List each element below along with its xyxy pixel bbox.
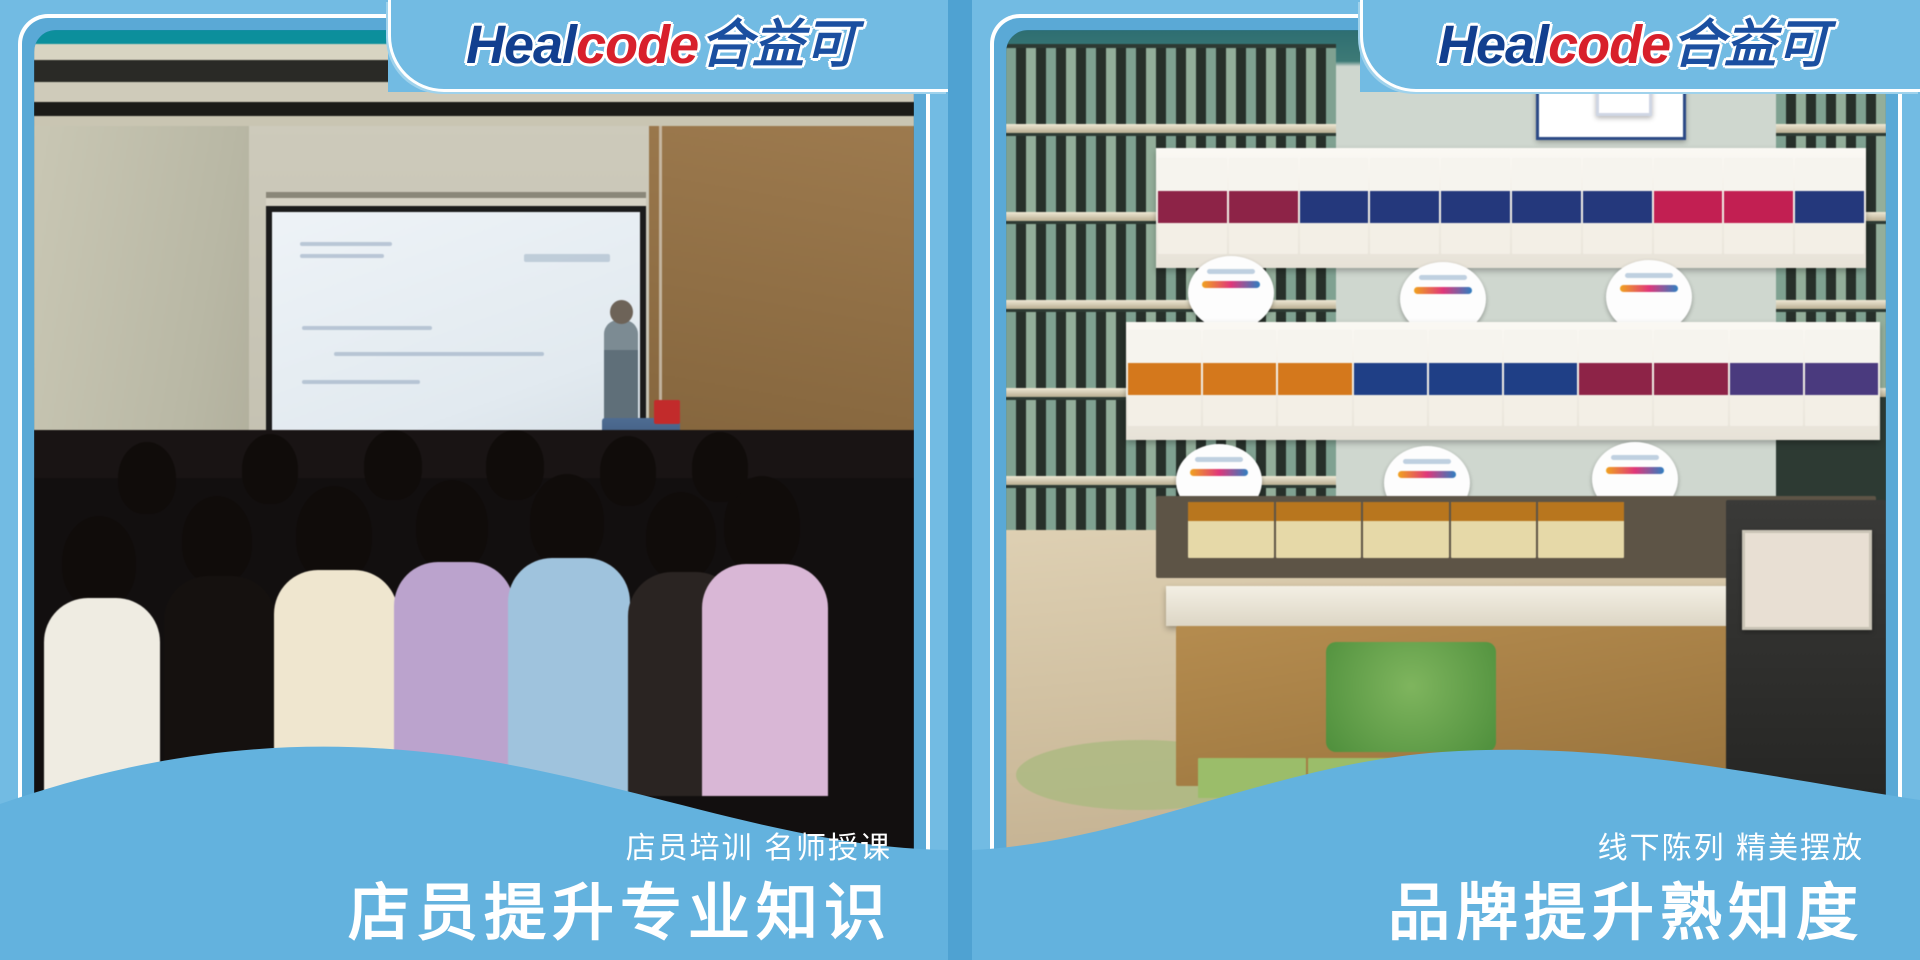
gondola-shelf-top bbox=[1156, 148, 1866, 268]
product-box-row bbox=[1156, 158, 1866, 254]
product-box bbox=[1278, 330, 1351, 426]
brand-header-tab: Healcode合益可 bbox=[388, 0, 948, 92]
logo-text-chinese: 合益可 bbox=[700, 10, 856, 80]
promo-banner: Healcode合益可 店员培训 名师授课 店员提升专业知识 bbox=[0, 0, 1920, 960]
panel-caption: 店员培训 名师授课 店员提升专业知识 bbox=[0, 760, 948, 960]
healcode-logo: Healcode合益可 bbox=[466, 10, 856, 80]
product-box bbox=[1579, 330, 1652, 426]
product-box bbox=[1203, 330, 1276, 426]
product-box bbox=[1363, 502, 1449, 558]
caption-subtitle: 线下陈列 精美摆放 bbox=[1598, 823, 1864, 867]
shelf-wobbler bbox=[1188, 256, 1274, 330]
product-box bbox=[1354, 330, 1427, 426]
product-box bbox=[1158, 158, 1227, 254]
brand-header-tab: Healcode合益可 bbox=[1360, 0, 1920, 92]
product-box bbox=[1504, 330, 1577, 426]
product-box bbox=[1229, 158, 1298, 254]
projector-slide bbox=[272, 212, 640, 458]
product-box bbox=[1370, 158, 1439, 254]
product-box bbox=[1276, 502, 1362, 558]
logo-text-code: code bbox=[576, 10, 698, 80]
caption-title: 店员提升专业知识 bbox=[348, 881, 892, 946]
caption-subtitle: 店员培训 名师授课 bbox=[626, 823, 892, 867]
panel-offline-display: Healcode合益可 线下陈列 精美摆放 品牌提升熟知度 bbox=[972, 0, 1920, 960]
product-box bbox=[1188, 502, 1274, 558]
panel-staff-training: Healcode合益可 店员培训 名师授课 店员提升专业知识 bbox=[0, 0, 948, 960]
presenter bbox=[604, 320, 638, 425]
product-box bbox=[1512, 158, 1581, 254]
product-box bbox=[1730, 330, 1803, 426]
product-box bbox=[1654, 330, 1727, 426]
product-box bbox=[1795, 158, 1864, 254]
product-box bbox=[1805, 330, 1878, 426]
product-box bbox=[1724, 158, 1793, 254]
logo-text-heal: Heal bbox=[466, 10, 576, 80]
product-box bbox=[1300, 158, 1369, 254]
logo-text-chinese: 合益可 bbox=[1672, 10, 1828, 80]
logo-text-heal: Heal bbox=[1438, 10, 1548, 80]
product-box bbox=[1451, 502, 1537, 558]
product-box bbox=[1583, 158, 1652, 254]
healcode-logo: Healcode合益可 bbox=[1438, 10, 1828, 80]
product-box bbox=[1429, 330, 1502, 426]
end-cap-poster bbox=[1742, 530, 1872, 630]
product-box bbox=[1538, 502, 1624, 558]
product-box bbox=[1441, 158, 1510, 254]
product-box-row bbox=[1186, 502, 1626, 558]
bottom-banner-illustration bbox=[1326, 642, 1496, 752]
projector-screen bbox=[266, 206, 646, 464]
gondola-shelf-middle bbox=[1126, 322, 1880, 440]
product-box bbox=[1654, 158, 1723, 254]
product-box-row bbox=[1126, 330, 1880, 426]
caption-title: 品牌提升熟知度 bbox=[1388, 881, 1864, 946]
panel-caption: 线下陈列 精美摆放 品牌提升熟知度 bbox=[972, 760, 1920, 960]
product-box bbox=[1128, 330, 1201, 426]
logo-text-code: code bbox=[1548, 10, 1670, 80]
